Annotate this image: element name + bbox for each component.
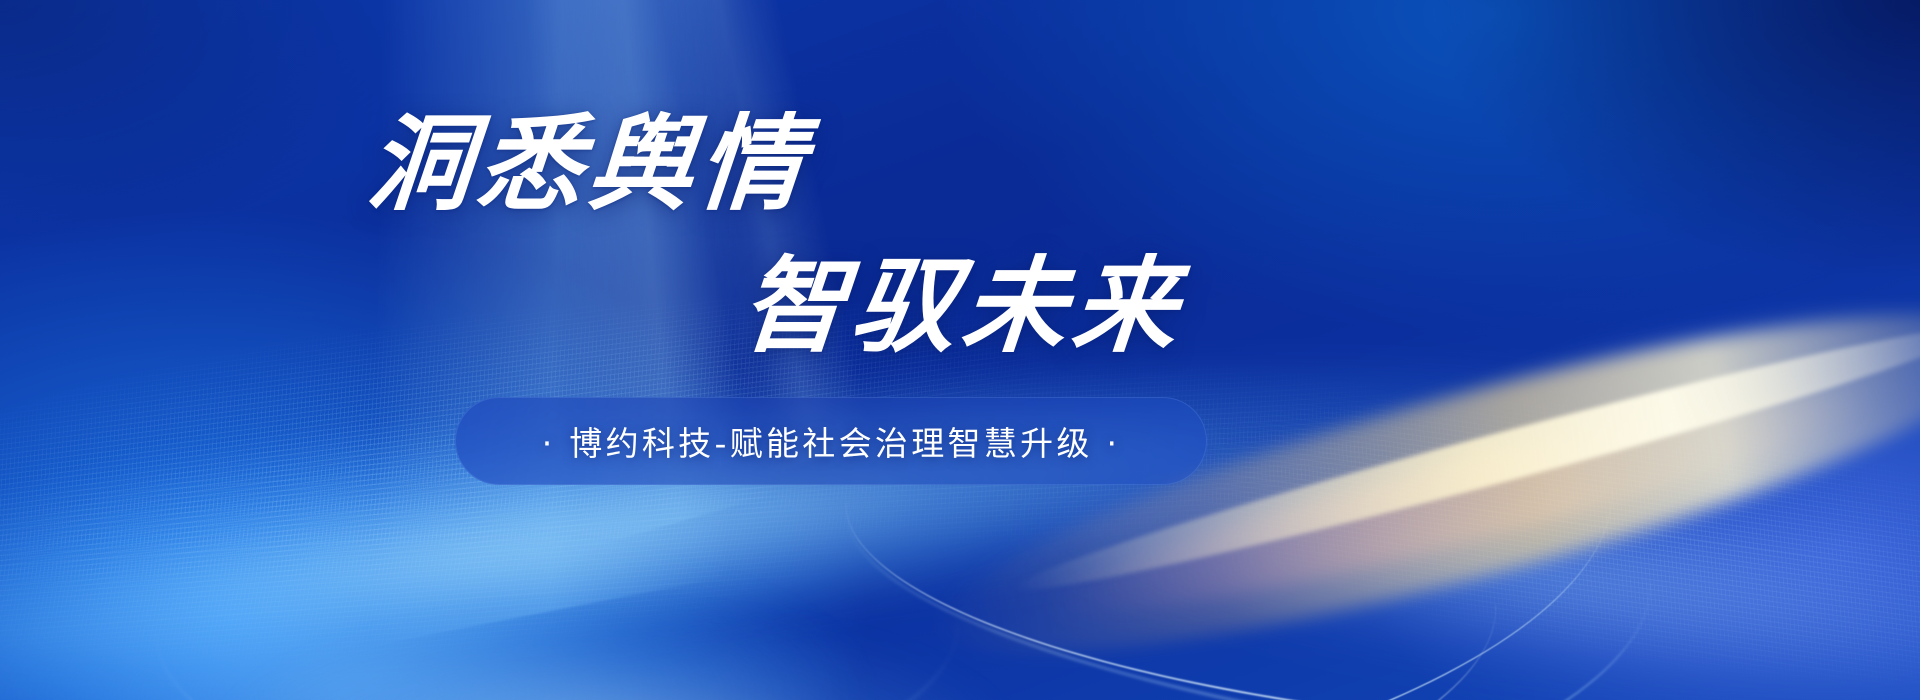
hero-banner: 洞悉舆情 智驭未来 · 博约科技-赋能社会治理智慧升级 ·	[0, 0, 1920, 700]
banner-content: 洞悉舆情 智驭未来 · 博约科技-赋能社会治理智慧升级 ·	[0, 0, 1920, 700]
banner-subtitle-badge: · 博约科技-赋能社会治理智慧升级 ·	[455, 397, 1207, 485]
banner-title-line-1: 洞悉舆情	[363, 112, 813, 216]
banner-subtitle-text: · 博约科技-赋能社会治理智慧升级 ·	[542, 417, 1121, 465]
banner-title-line-2: 智驭未来	[737, 254, 1187, 358]
